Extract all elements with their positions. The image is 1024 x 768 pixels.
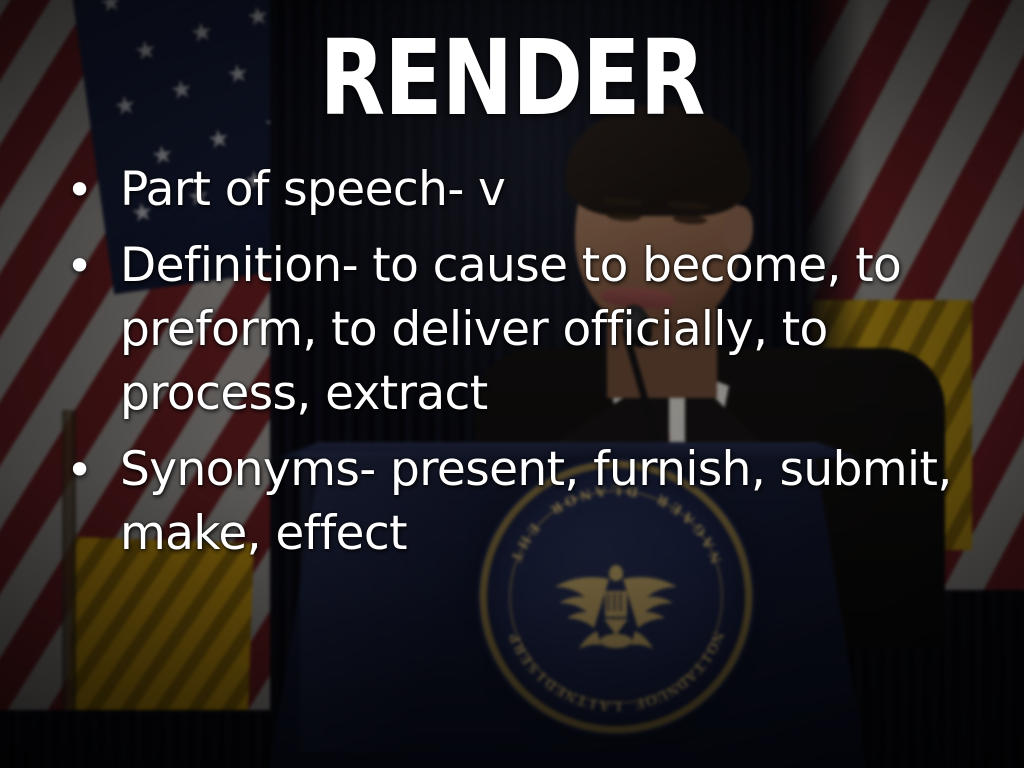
bullet-text: Synonyms- present, furnish, submit, make…: [120, 438, 968, 566]
bullet-point-icon: •: [56, 234, 120, 298]
bullet-text: Part of speech- v: [120, 158, 968, 222]
list-item: • Part of speech- v: [56, 158, 968, 222]
list-item: • Synonyms- present, furnish, submit, ma…: [56, 438, 968, 566]
slide-content: RENDER • Part of speech- v • Definition-…: [0, 0, 1024, 768]
list-item: • Definition- to cause to become, to pre…: [56, 234, 968, 426]
bullet-point-icon: •: [56, 438, 120, 502]
bullet-list: • Part of speech- v • Definition- to cau…: [56, 158, 968, 578]
slide-title: RENDER: [92, 26, 932, 130]
presentation-slide: ★ ★ ★ ★ ★ ★ ★ ★ ★ ★ ★ ★ ★ ★ ★: [0, 0, 1024, 768]
bullet-text: Definition- to cause to become, to prefo…: [120, 234, 968, 426]
bullet-point-icon: •: [56, 158, 120, 222]
